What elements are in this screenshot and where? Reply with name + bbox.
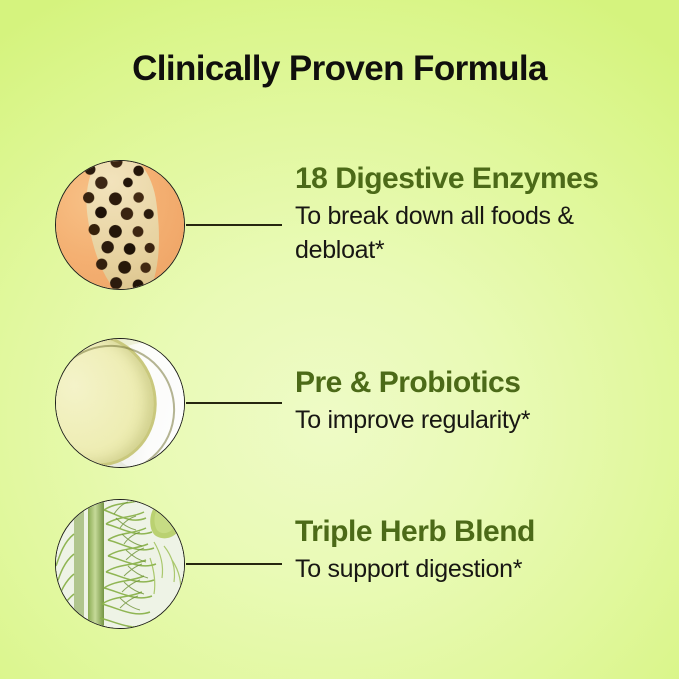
- feature-heading-probiotics: Pre & Probiotics: [295, 365, 655, 401]
- feature-row-digestive-enzymes: 18 Digestive Enzymes To break down all f…: [0, 155, 679, 295]
- thumbnail-circle-herbs: [55, 499, 185, 629]
- feature-text-enzymes: 18 Digestive Enzymes To break down all f…: [295, 161, 625, 267]
- feature-row-triple-herb-blend: Triple Herb Blend To support digestion*: [0, 494, 679, 634]
- thumbnail-circle-probiotics: [55, 338, 185, 468]
- connector-line-probiotics: [186, 402, 282, 404]
- feature-heading-herbs: Triple Herb Blend: [295, 514, 655, 550]
- papaya-seeds-cluster: [75, 160, 173, 290]
- feature-subtext-probiotics: To improve regularity*: [295, 403, 655, 437]
- feature-text-probiotics: Pre & Probiotics To improve regularity*: [295, 365, 655, 437]
- fennel-herb-photo: [55, 499, 185, 629]
- connector-line-enzymes: [186, 224, 282, 226]
- feature-subtext-herbs: To support digestion*: [295, 552, 655, 586]
- clinically-proven-formula-infographic: Clinically Proven Formula 18 Digestive E…: [0, 0, 679, 679]
- feature-heading-enzymes: 18 Digestive Enzymes: [295, 161, 625, 197]
- connector-line-herbs: [186, 563, 282, 565]
- fennel-fronds-illustration: [55, 499, 185, 629]
- feature-text-herbs: Triple Herb Blend To support digestion*: [295, 514, 655, 586]
- feature-row-pre-and-probiotics: Pre & Probiotics To improve regularity*: [0, 333, 679, 473]
- thumbnail-circle-enzymes: [55, 160, 185, 290]
- petri-dish-culture-photo: [55, 338, 185, 468]
- papaya-with-seeds-photo: [55, 160, 185, 290]
- feature-subtext-enzymes: To break down all foods & debloat*: [295, 199, 625, 267]
- page-title: Clinically Proven Formula: [0, 48, 679, 90]
